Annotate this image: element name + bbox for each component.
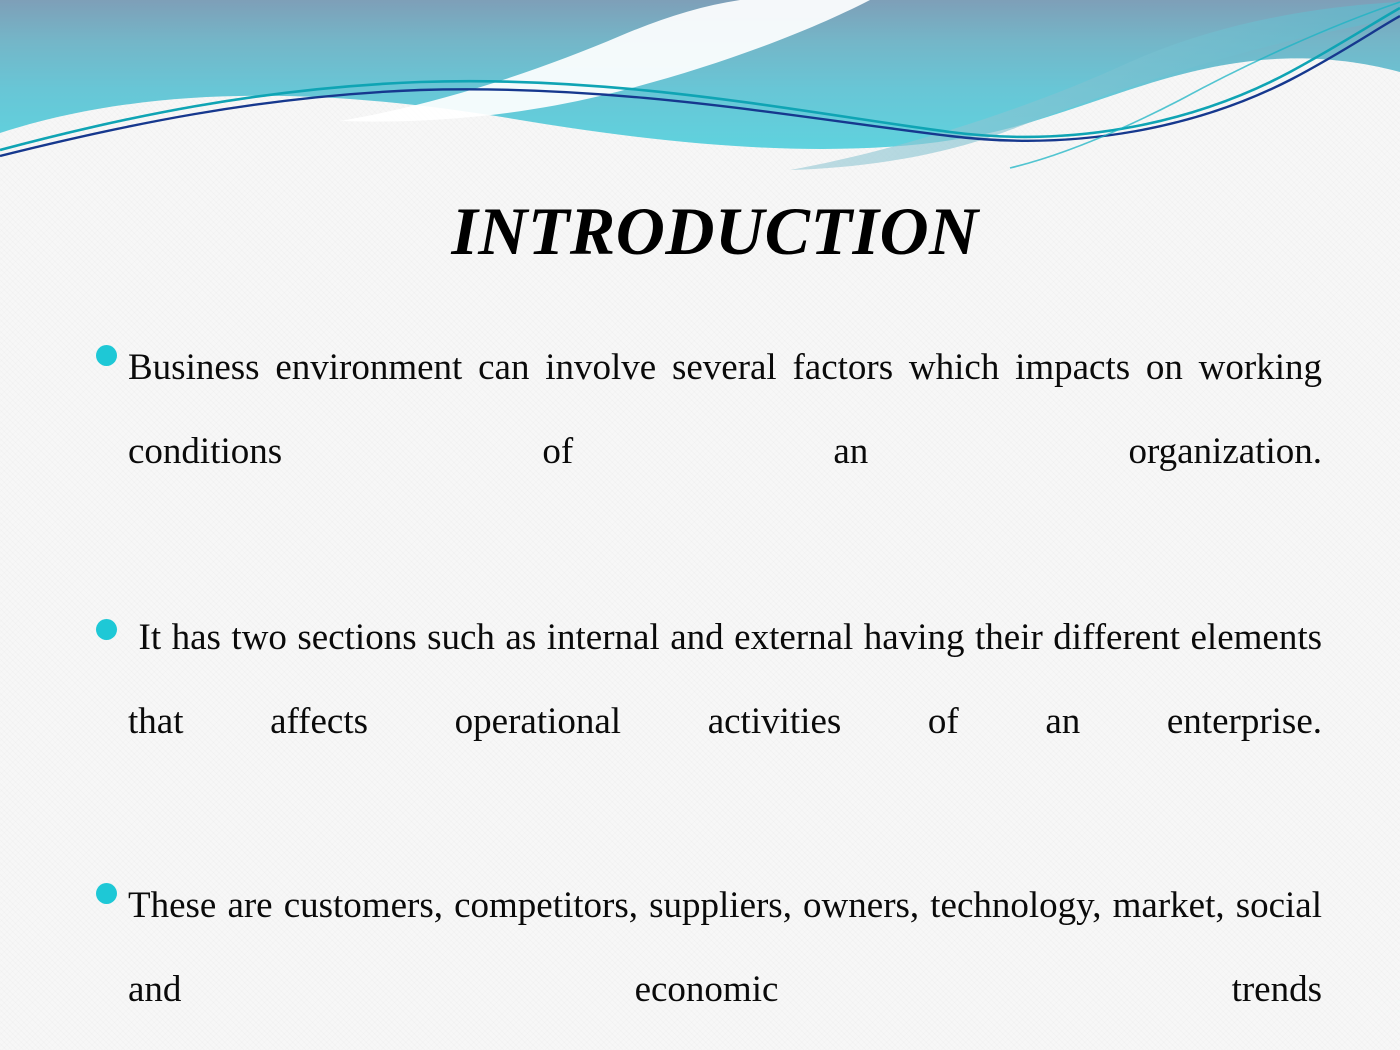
bullet-dot-icon [96,883,117,904]
list-item: These are customers, competitors, suppli… [90,864,1322,1050]
title-container: INTRODUCTION [0,196,1400,267]
bullet-dot-icon [96,345,117,366]
banner-teal-shape [0,0,1400,149]
list-item: Business environment can involve several… [90,326,1322,578]
banner-line-navy [0,16,1400,156]
list-item-text: These are customers, competitors, suppli… [128,864,1322,1050]
bullet-dot-icon [96,619,117,640]
list-item-text: Business environment can involve several… [128,326,1322,578]
banner-line-teal [0,8,1400,150]
decorative-header-banner [0,0,1400,175]
banner-white-swoosh [340,0,1400,175]
list-item: It has two sections such as internal and… [90,596,1322,848]
list-item-text: It has two sections such as internal and… [128,596,1322,848]
banner-secondary-band [790,2,1400,170]
page-title: INTRODUCTION [421,196,978,267]
presentation-slide: INTRODUCTION Business environment can in… [0,0,1400,1050]
slide-body: Business environment can involve several… [90,326,1322,1050]
banner-line-teal-secondary [1010,2,1400,168]
